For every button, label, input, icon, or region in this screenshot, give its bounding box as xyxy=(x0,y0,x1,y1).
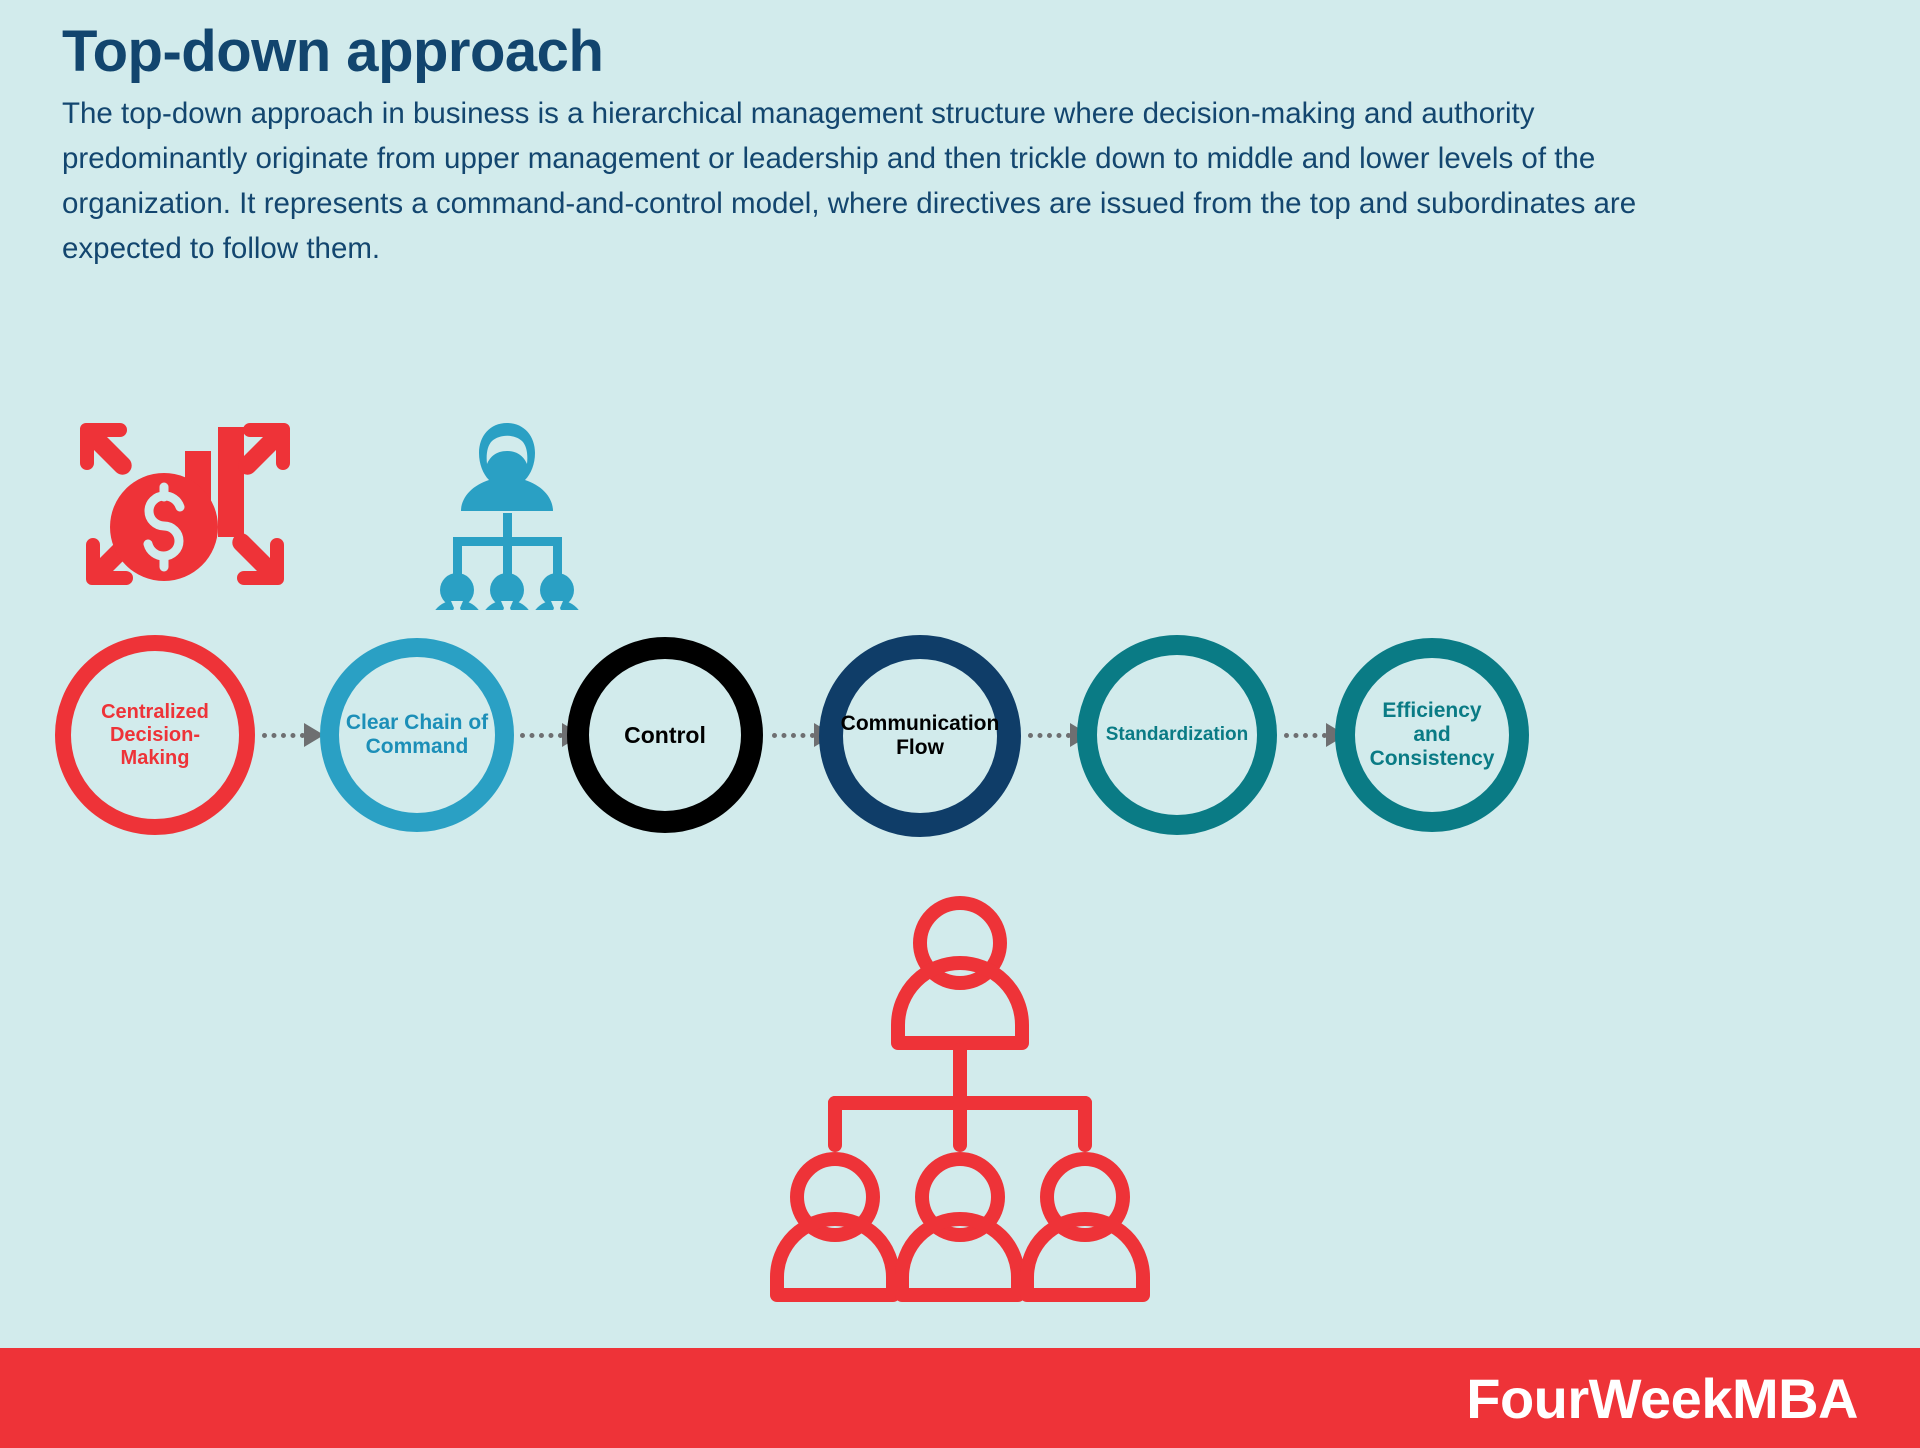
infographic-canvas: Top-down approach The top-down approach … xyxy=(0,0,1920,1448)
arrow-dots xyxy=(262,733,305,738)
chain-node-centralized-decision-making[interactable]: Centralized Decision-Making xyxy=(55,635,255,835)
arrow-dots xyxy=(1284,733,1327,738)
brand-logo: FourWeekMBA xyxy=(1466,1366,1920,1431)
arrow-dots xyxy=(520,733,563,738)
chain-node-clear-chain-of-command[interactable]: Clear Chain of Command xyxy=(320,638,514,832)
page-title: Top-down approach xyxy=(62,22,1702,83)
header: Top-down approach The top-down approach … xyxy=(62,22,1702,271)
chain-node-label: Standardization xyxy=(1100,724,1255,746)
chain-node-control[interactable]: Control xyxy=(567,637,763,833)
money-growth-icon xyxy=(78,415,293,605)
process-chain: Centralized Decision-Making Clear Chain … xyxy=(0,635,1920,850)
chain-node-label: Communication Flow xyxy=(835,712,1006,760)
chain-node-label: Efficiency and Consistency xyxy=(1355,699,1509,771)
chain-node-label: Centralized Decision-Making xyxy=(71,701,239,770)
arrow-dots xyxy=(1028,733,1071,738)
chain-node-standardization[interactable]: Standardization xyxy=(1077,635,1277,835)
chain-node-label: Control xyxy=(618,722,712,748)
dotted-arrow xyxy=(262,728,324,742)
page-description: The top-down approach in business is a h… xyxy=(62,91,1657,272)
chain-node-efficiency-and-consistency[interactable]: Efficiency and Consistency xyxy=(1335,638,1529,832)
footer-bar: FourWeekMBA xyxy=(0,1348,1920,1448)
chain-node-communication-flow[interactable]: Communication Flow xyxy=(819,635,1021,837)
org-chart-icon xyxy=(400,415,615,610)
chain-node-label: Clear Chain of Command xyxy=(340,711,494,759)
arrow-dots xyxy=(772,733,815,738)
hierarchy-diagram-icon xyxy=(735,895,1185,1345)
